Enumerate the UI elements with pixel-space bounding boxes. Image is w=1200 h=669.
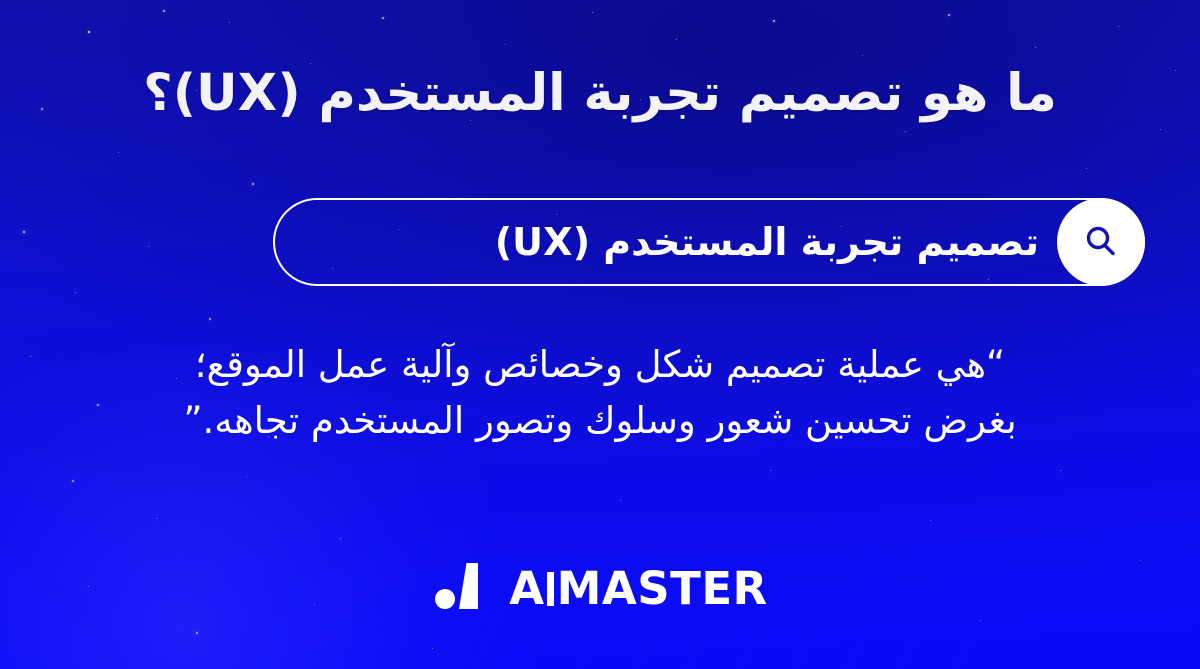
definition-quote: “هي عملية تصميم شكل وخصائص وآلية عمل الم… [0, 337, 1200, 449]
brand-logo: A MASTER [0, 562, 1200, 614]
slide-content: ما هو تصميم تجربة المستخدم (UX)؟ تصميم ت… [0, 0, 1200, 669]
page-title: ما هو تصميم تجربة المستخدم (UX)؟ [0, 60, 1200, 127]
slide-canvas: ما هو تصميم تجربة المستخدم (UX)؟ تصميم ت… [0, 0, 1200, 669]
brand-logo-i-bar [547, 572, 554, 606]
brand-logo-text-suffix: MASTER [557, 566, 768, 611]
aimaster-logo-mark-icon [432, 562, 494, 614]
search-bar[interactable]: تصميم تجربة المستخدم (UX) [273, 198, 1145, 286]
brand-logo-text: A MASTER [509, 566, 767, 611]
quote-line-1: “هي عملية تصميم شكل وخصائص وآلية عمل الم… [70, 337, 1130, 393]
search-icon [1079, 220, 1123, 264]
brand-logo-text-prefix: A [509, 566, 544, 611]
quote-line-2: بغرض تحسين شعور وسلوك وتصور المستخدم تجا… [70, 393, 1130, 449]
search-input[interactable]: تصميم تجربة المستخدم (UX) [311, 220, 1039, 264]
search-button[interactable] [1057, 198, 1145, 286]
